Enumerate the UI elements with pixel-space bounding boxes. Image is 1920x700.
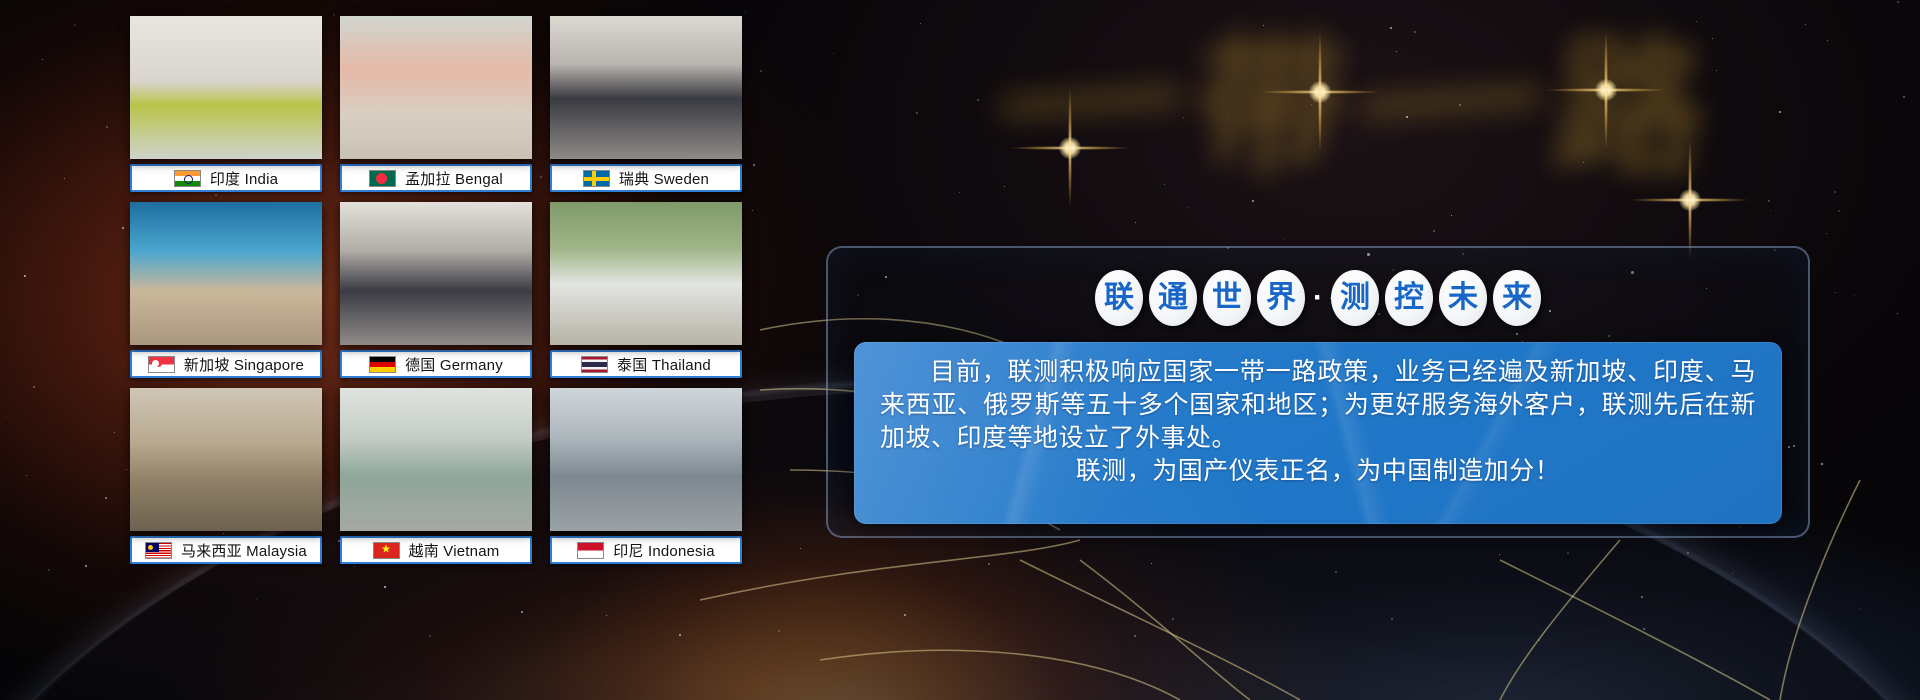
description-paragraph-1: 目前，联测积极响应国家一带一路政策，业务已经遍及新加坡、印度、马来西亚、俄罗斯等… [880, 356, 1756, 455]
partner-photo[interactable] [340, 388, 532, 531]
slogan-separator-dot: · [1311, 283, 1325, 313]
photo-image [340, 16, 532, 159]
germany-flag-icon [369, 356, 396, 373]
photo-image [130, 16, 322, 159]
partner-photo[interactable] [550, 388, 742, 531]
slogan-bead: 界 [1257, 270, 1305, 326]
india-flag-icon [174, 170, 201, 187]
bengal-flag-icon [369, 170, 396, 187]
slogan-bead: 通 [1149, 270, 1197, 326]
partner-photo-grid: 印度 India孟加拉 Bengal瑞典 Sweden新加坡 Singapore… [130, 16, 762, 584]
belt-and-road-banner: 印度 India孟加拉 Bengal瑞典 Sweden新加坡 Singapore… [0, 0, 1920, 700]
partner-photo[interactable] [550, 202, 742, 345]
description-panel: 目前，联测积极响应国家一带一路政策，业务已经遍及新加坡、印度、马来西亚、俄罗斯等… [854, 342, 1782, 524]
photo-image [130, 202, 322, 345]
slogan-bead-char: 控 [1394, 283, 1424, 313]
slogan-bead: 控 [1385, 270, 1433, 326]
photo-card[interactable]: 孟加拉 Bengal [340, 16, 532, 200]
calligraphy-char-2: 带 [1188, 35, 1351, 185]
photo-caption-label: 新加坡 Singapore [184, 354, 304, 375]
photo-caption: 印尼 Indonesia [550, 536, 742, 564]
photo-caption: 泰国 Thailand [550, 350, 742, 378]
photo-caption-label: 泰国 Thailand [617, 354, 711, 375]
vietnam-flag-icon [373, 542, 400, 559]
indonesia-flag-icon [577, 542, 604, 559]
slogan-bead-char: 通 [1158, 283, 1188, 313]
slogan-bead-char: 世 [1212, 283, 1242, 313]
photo-caption-label: 瑞典 Sweden [619, 168, 709, 189]
photo-image [340, 388, 532, 531]
slogan-bead: 联 [1095, 270, 1143, 326]
right-content-pane: 一 带 一 路 联通世界·测控未来 目前，联测积极响应国家一带一路政策，业务已经… [790, 0, 1920, 700]
photo-card[interactable]: 瑞典 Sweden [550, 16, 742, 200]
partner-photo[interactable] [550, 16, 742, 159]
photo-caption-label: 孟加拉 Bengal [405, 168, 503, 189]
singapore-flag-icon [148, 356, 175, 373]
photo-caption: 越南 Vietnam [340, 536, 532, 564]
photo-card[interactable]: 印尼 Indonesia [550, 388, 742, 572]
photo-card[interactable]: 马来西亚 Malaysia [130, 388, 322, 572]
photo-image [340, 202, 532, 345]
photo-caption: 马来西亚 Malaysia [130, 536, 322, 564]
slogan-bead-char: 界 [1266, 283, 1296, 313]
photo-caption: 瑞典 Sweden [550, 164, 742, 192]
calligraphy-title: 一 带 一 路 [830, 10, 1890, 210]
photo-image [130, 388, 322, 531]
partner-photo[interactable] [130, 16, 322, 159]
photo-caption-label: 德国 Germany [405, 354, 503, 375]
slogan-bead: 来 [1493, 270, 1541, 326]
sweden-flag-icon [583, 170, 610, 187]
photo-caption-label: 印尼 Indonesia [613, 540, 715, 561]
partner-photo[interactable] [130, 388, 322, 531]
partner-photo[interactable] [340, 16, 532, 159]
photo-card[interactable]: 德国 Germany [340, 202, 532, 386]
partner-photo[interactable] [130, 202, 322, 345]
photo-caption: 新加坡 Singapore [130, 350, 322, 378]
description-paragraph-2: 联测，为国产仪表正名，为中国制造加分！ [880, 455, 1756, 488]
slogan-bead: 测 [1331, 270, 1379, 326]
slogan-bead-char: 来 [1502, 283, 1532, 313]
photo-caption-label: 印度 India [210, 168, 278, 189]
slogan-bead-char: 联 [1104, 283, 1134, 313]
calligraphy-char-1: 一 [987, 29, 1192, 192]
slogan-bead-char: 未 [1448, 283, 1478, 313]
photo-card[interactable]: 越南 Vietnam [340, 388, 532, 572]
photo-card[interactable]: 印度 India [130, 16, 322, 200]
photo-caption: 印度 India [130, 164, 322, 192]
slogan-bead-char: 测 [1340, 283, 1370, 313]
photo-caption: 德国 Germany [340, 350, 532, 378]
photo-image [550, 388, 742, 531]
slogan-bead: 世 [1203, 270, 1251, 326]
partner-photo[interactable] [340, 202, 532, 345]
photo-card[interactable]: 泰国 Thailand [550, 202, 742, 386]
photo-card[interactable]: 新加坡 Singapore [130, 202, 322, 386]
calligraphy-char-4: 路 [1548, 35, 1711, 185]
photo-image [550, 202, 742, 345]
slogan-bead: 未 [1439, 270, 1487, 326]
photo-caption: 孟加拉 Bengal [340, 164, 532, 192]
slogan-row: 联通世界·测控未来 [826, 262, 1810, 334]
photo-caption-label: 越南 Vietnam [409, 540, 500, 561]
malaysia-flag-icon [145, 542, 172, 559]
thailand-flag-icon [581, 356, 608, 373]
photo-image [550, 16, 742, 159]
calligraphy-char-3: 一 [1347, 29, 1552, 192]
photo-caption-label: 马来西亚 Malaysia [181, 540, 307, 561]
